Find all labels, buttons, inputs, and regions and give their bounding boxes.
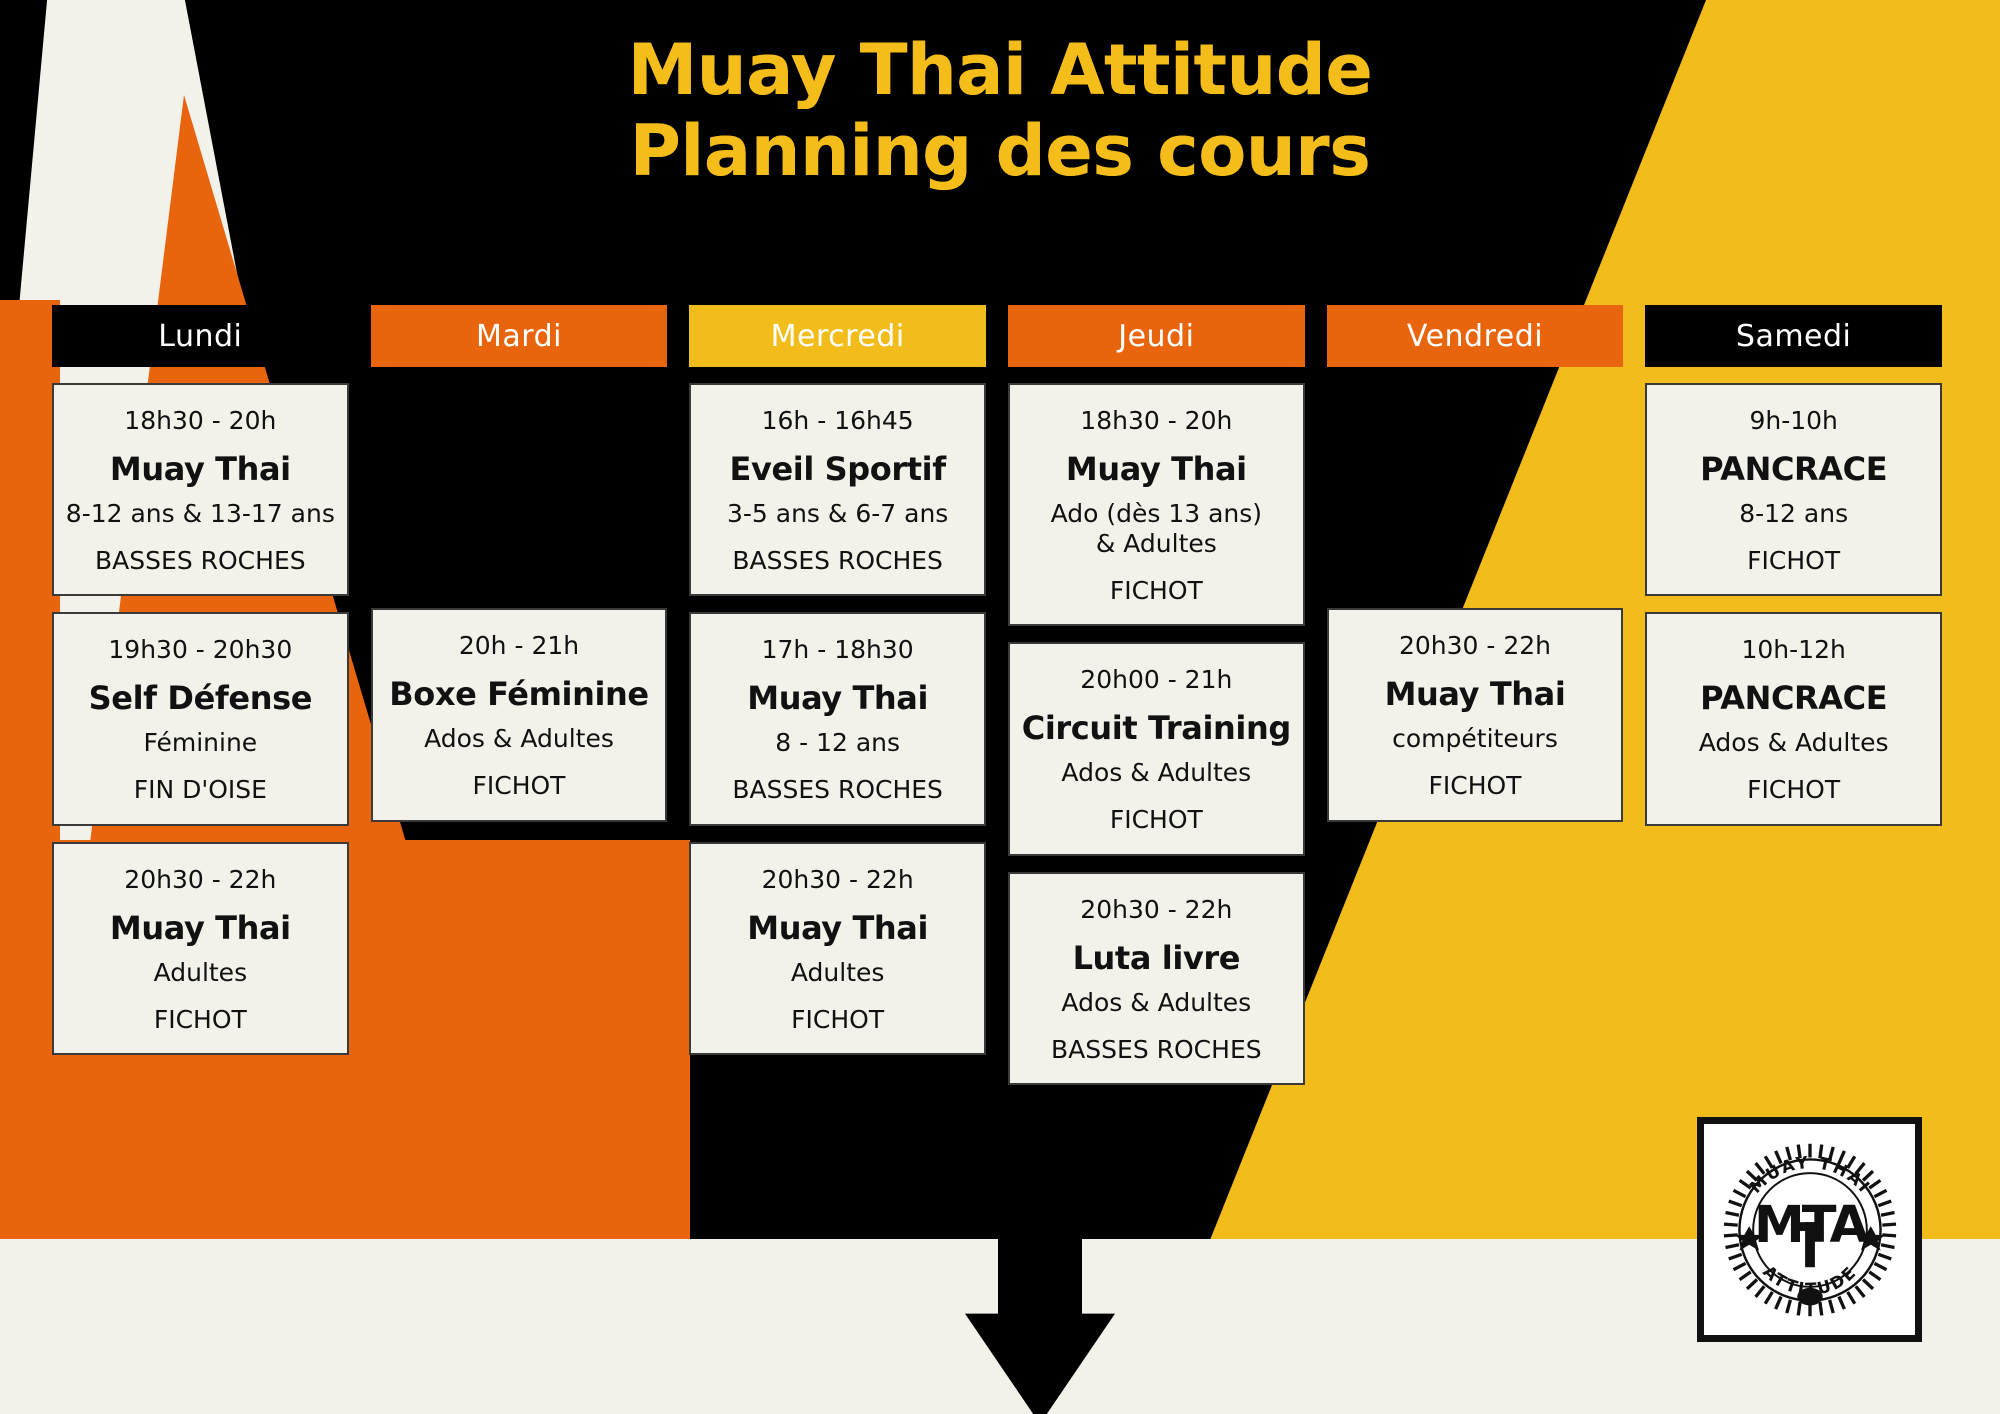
poster-title: Muay Thai Attitude Planning des cours [0,30,2000,192]
slot-mardi-1 [371,383,668,592]
day-header-lundi[interactable]: Lundi [52,305,349,367]
course-time: 18h30 - 20h [1020,407,1293,436]
course-location: FICHOT [701,1006,974,1034]
day-column-jeudi: Jeudi18h30 - 20hMuay ThaiAdo (dès 13 ans… [1008,305,1305,1101]
course-card[interactable]: 18h30 - 20hMuay ThaiAdo (dès 13 ans) & A… [1008,383,1305,626]
course-time: 9h-10h [1657,407,1930,436]
course-audience: compétiteurs [1339,724,1612,754]
slot-mercredi-3: 20h30 - 22hMuay ThaiAdultesFICHOT [689,842,986,1055]
course-name: Eveil Sportif [701,452,974,487]
slot-mercredi-2: 17h - 18h30Muay Thai8 - 12 ansBASSES ROC… [689,612,986,825]
slot-lundi-1: 18h30 - 20hMuay Thai8-12 ans & 13-17 ans… [52,383,349,596]
course-name: Muay Thai [1020,452,1293,487]
course-location: FICHOT [1020,577,1293,605]
day-header-mercredi[interactable]: Mercredi [689,305,986,367]
schedule-grid: Lundi18h30 - 20hMuay Thai8-12 ans & 13-1… [52,305,1942,1101]
day-header-mardi[interactable]: Mardi [371,305,668,367]
course-card[interactable]: 19h30 - 20h30Self DéfenseFéminineFIN D'O… [52,612,349,825]
course-location: FICHOT [1657,776,1930,804]
day-header-samedi[interactable]: Samedi [1645,305,1942,367]
course-location: BASSES ROCHES [701,776,974,804]
course-location: FICHOT [383,772,656,800]
course-location: FICHOT [1339,772,1612,800]
course-card[interactable]: 20h30 - 22hLuta livreAdos & AdultesBASSE… [1008,872,1305,1085]
course-card[interactable]: 9h-10hPANCRACE8-12 ansFICHOT [1645,383,1942,596]
course-name: Muay Thai [64,911,337,946]
day-header-vendredi[interactable]: Vendredi [1327,305,1624,367]
course-location: FIN D'OISE [64,776,337,804]
course-time: 10h-12h [1657,636,1930,665]
course-card[interactable]: 20h - 21hBoxe FéminineAdos & AdultesFICH… [371,608,668,821]
course-audience: Adultes [701,958,974,988]
course-time: 20h30 - 22h [1020,896,1293,925]
course-time: 20h30 - 22h [1339,632,1612,661]
slot-lundi-2: 19h30 - 20h30Self DéfenseFéminineFIN D'O… [52,612,349,825]
day-header-jeudi[interactable]: Jeudi [1008,305,1305,367]
slot-jeudi-2: 20h00 - 21hCircuit TrainingAdos & Adulte… [1008,642,1305,855]
course-time: 20h30 - 22h [64,866,337,895]
course-card[interactable]: 20h30 - 22hMuay ThaicompétiteursFICHOT [1327,608,1624,821]
course-audience: Féminine [64,728,337,758]
course-audience: Ados & Adultes [1020,758,1293,788]
schedule-poster: Muay Thai Attitude Planning des cours Lu… [0,0,2000,1414]
course-card[interactable]: 18h30 - 20hMuay Thai8-12 ans & 13-17 ans… [52,383,349,596]
day-column-vendredi: Vendredi 20h30 - 22hMuay Thaicompétiteur… [1327,305,1624,1101]
course-card[interactable]: 20h30 - 22hMuay ThaiAdultesFICHOT [689,842,986,1055]
title-line-1: Muay Thai Attitude [0,30,2000,111]
course-name: Circuit Training [1020,711,1293,746]
course-audience: 8 - 12 ans [701,728,974,758]
slot-mardi-3 [371,838,668,1047]
course-time: 19h30 - 20h30 [64,636,337,665]
course-audience: Ados & Adultes [1657,728,1930,758]
course-name: PANCRACE [1657,452,1930,487]
slot-vendredi-2: 20h30 - 22hMuay ThaicompétiteursFICHOT [1327,608,1624,821]
title-line-2: Planning des cours [0,111,2000,192]
course-audience: Ados & Adultes [383,724,656,754]
slot-samedi-2: 10h-12hPANCRACEAdos & AdultesFICHOT [1645,612,1942,825]
course-card[interactable]: 20h00 - 21hCircuit TrainingAdos & Adulte… [1008,642,1305,855]
course-name: Boxe Féminine [383,677,656,712]
course-location: BASSES ROCHES [1020,1036,1293,1064]
slot-vendredi-1 [1327,383,1624,592]
course-time: 18h30 - 20h [64,407,337,436]
course-time: 20h00 - 21h [1020,666,1293,695]
course-audience: 8-12 ans [1657,499,1930,529]
slot-mercredi-1: 16h - 16h45Eveil Sportif3-5 ans & 6-7 an… [689,383,986,596]
day-column-samedi: Samedi9h-10hPANCRACE8-12 ansFICHOT10h-12… [1645,305,1942,1101]
course-name: Muay Thai [1339,677,1612,712]
course-name: Self Défense [64,681,337,716]
slot-jeudi-1: 18h30 - 20hMuay ThaiAdo (dès 13 ans) & A… [1008,383,1305,626]
club-logo: MUAY THAI ATTITUDE MTA [1697,1117,1922,1342]
slot-vendredi-3 [1327,838,1624,1047]
course-name: Muay Thai [64,452,337,487]
course-card[interactable]: 20h30 - 22hMuay ThaiAdultesFICHOT [52,842,349,1055]
course-time: 20h30 - 22h [701,866,974,895]
course-location: BASSES ROCHES [701,547,974,575]
course-audience: Ado (dès 13 ans) & Adultes [1020,499,1293,559]
course-audience: 8-12 ans & 13-17 ans [64,499,337,529]
course-location: FICHOT [1657,547,1930,575]
course-location: FICHOT [64,1006,337,1034]
day-column-mardi: Mardi 20h - 21hBoxe FéminineAdos & Adult… [371,305,668,1101]
course-name: Muay Thai [701,681,974,716]
course-time: 20h - 21h [383,632,656,661]
course-name: PANCRACE [1657,681,1930,716]
course-time: 16h - 16h45 [701,407,974,436]
course-name: Muay Thai [701,911,974,946]
course-audience: Adultes [64,958,337,988]
day-column-mercredi: Mercredi16h - 16h45Eveil Sportif3-5 ans … [689,305,986,1101]
slot-samedi-3 [1645,842,1942,1051]
course-card[interactable]: 10h-12hPANCRACEAdos & AdultesFICHOT [1645,612,1942,825]
day-column-lundi: Lundi18h30 - 20hMuay Thai8-12 ans & 13-1… [52,305,349,1101]
course-card[interactable]: 16h - 16h45Eveil Sportif3-5 ans & 6-7 an… [689,383,986,596]
course-location: BASSES ROCHES [64,547,337,575]
course-name: Luta livre [1020,941,1293,976]
course-audience: Ados & Adultes [1020,988,1293,1018]
course-location: FICHOT [1020,806,1293,834]
slot-mardi-2: 20h - 21hBoxe FéminineAdos & AdultesFICH… [371,608,668,821]
slot-jeudi-3: 20h30 - 22hLuta livreAdos & AdultesBASSE… [1008,872,1305,1085]
course-time: 17h - 18h30 [701,636,974,665]
course-audience: 3-5 ans & 6-7 ans [701,499,974,529]
slot-lundi-3: 20h30 - 22hMuay ThaiAdultesFICHOT [52,842,349,1055]
slot-samedi-1: 9h-10hPANCRACE8-12 ansFICHOT [1645,383,1942,596]
muay-thai-attitude-logo-icon: MUAY THAI ATTITUDE MTA [1712,1132,1908,1328]
course-card[interactable]: 17h - 18h30Muay Thai8 - 12 ansBASSES ROC… [689,612,986,825]
